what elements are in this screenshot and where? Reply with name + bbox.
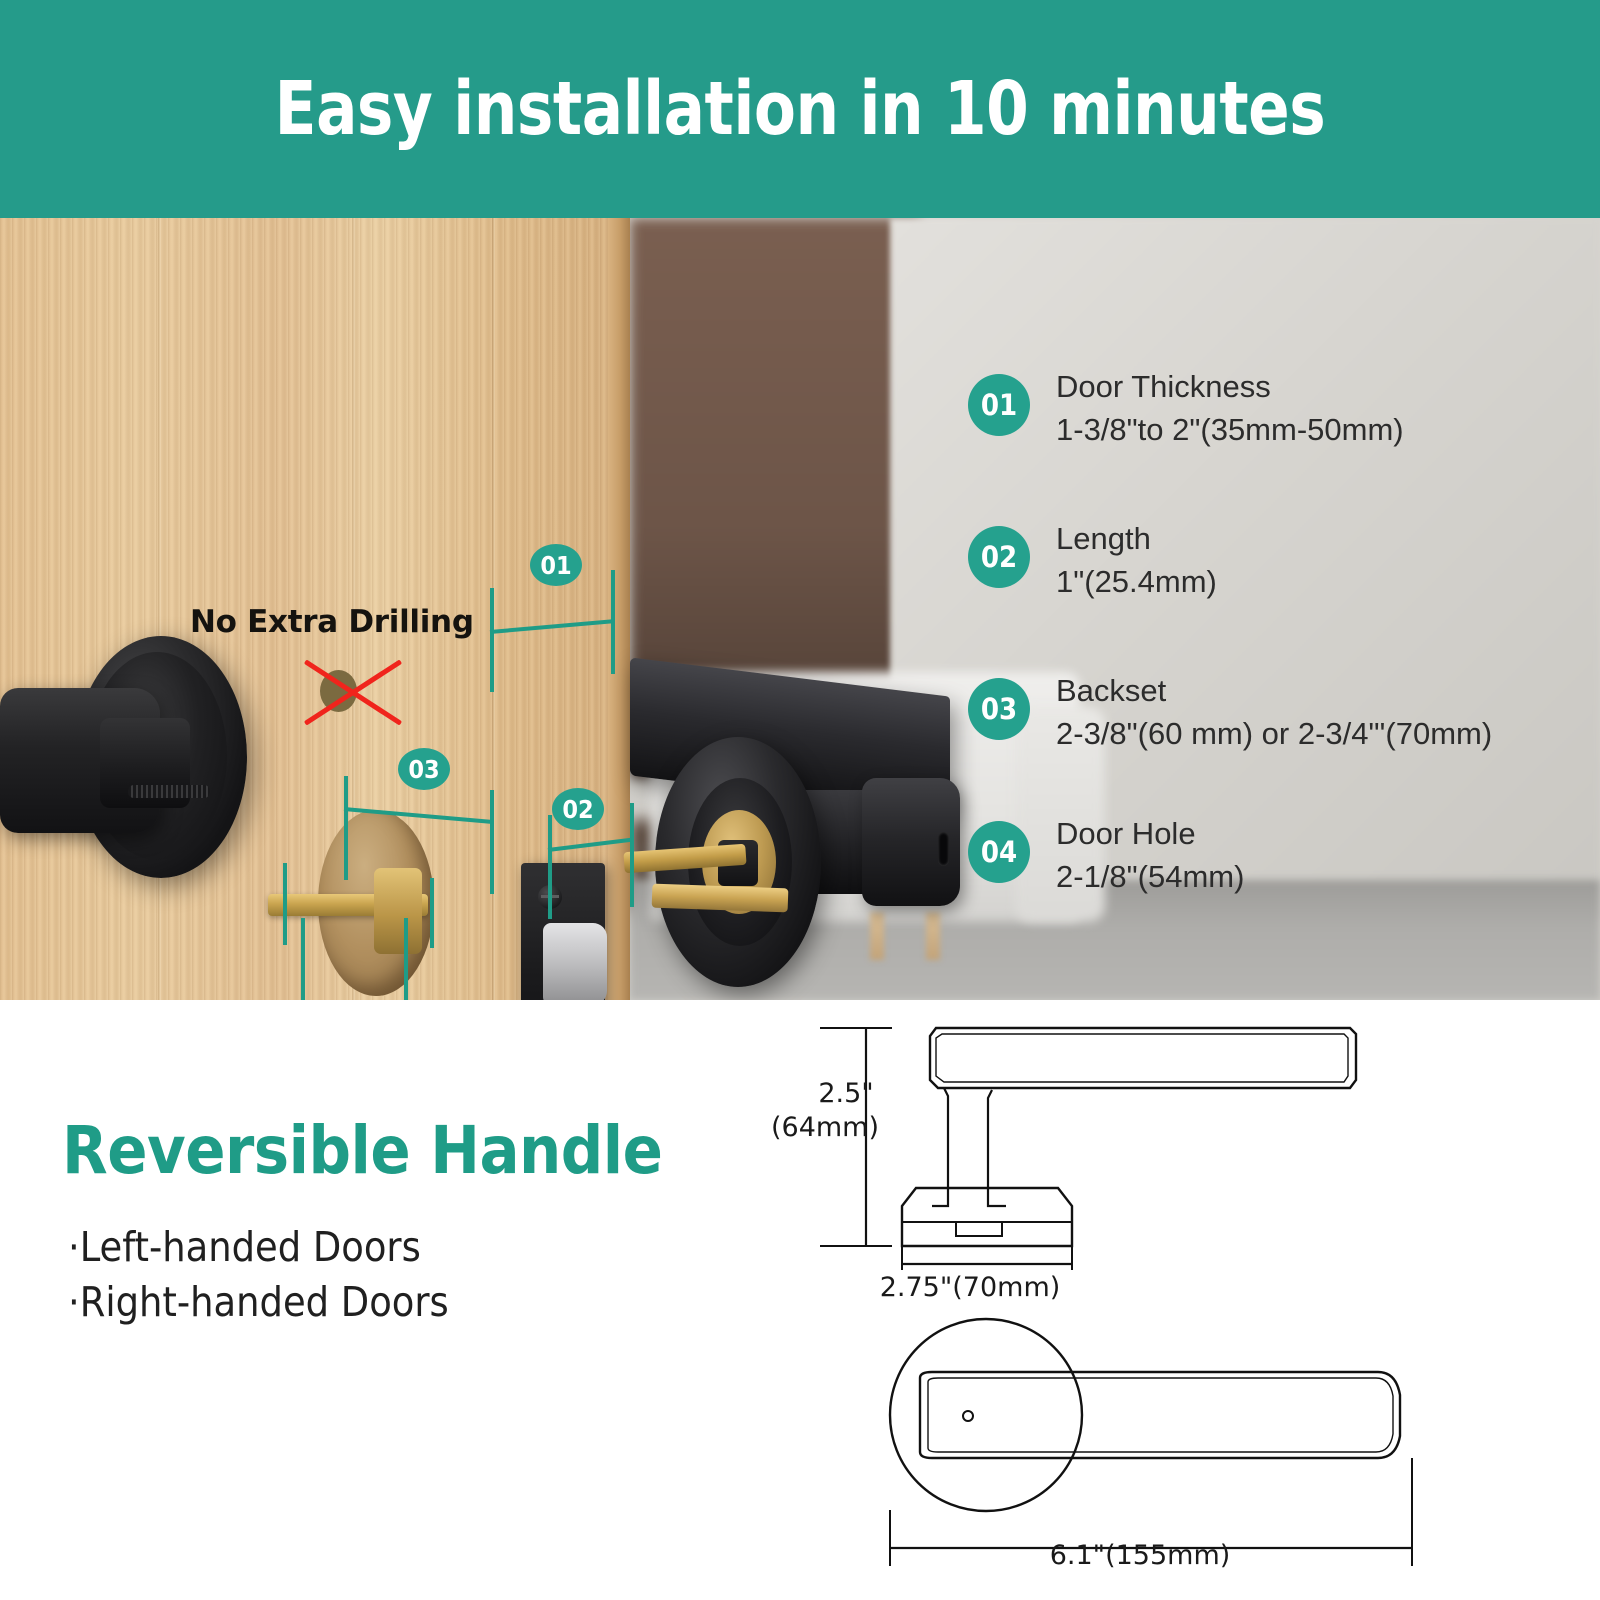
installation-photo: No Extra Drilling 01 03 02 04 (0, 218, 1600, 1000)
top-view-drawing (880, 1310, 1440, 1570)
spec-label-03: Backset (1056, 670, 1492, 712)
mounting-screw (128, 785, 210, 798)
spec-row-03: 03 Backset 2-3/8"(60 mm) or 2-3/4"'(70mm… (968, 670, 1492, 756)
spindle-hub (374, 868, 422, 954)
dimension-tick-03b (490, 790, 494, 894)
callout-badge-03-label: 03 (408, 755, 439, 784)
dimension-tick-04a (301, 918, 305, 1000)
reversible-handle-title: Reversible Handle (62, 1112, 662, 1189)
dimension-tick-02a (548, 815, 552, 919)
top-view-length-label: 6.1"(155mm) (1010, 1540, 1270, 1571)
spec-value-04: 2-1/8"(54mm) (1056, 855, 1244, 899)
spec-row-02: 02 Length 1"(25.4mm) (968, 518, 1217, 604)
spec-value-02: 1"(25.4mm) (1056, 560, 1217, 604)
spec-row-01: 01 Door Thickness 1-3/8"to 2"(35mm-50mm) (968, 366, 1404, 452)
spec-text-02: Length 1"(25.4mm) (1056, 518, 1217, 604)
spec-label-02: Length (1056, 518, 1217, 560)
latch-bolt (543, 923, 607, 1000)
spec-badge-04-label: 04 (981, 835, 1017, 869)
spec-text-01: Door Thickness 1-3/8"to 2"(35mm-50mm) (1056, 366, 1404, 452)
dimension-tick-04b (404, 918, 408, 1000)
brass-spindle (652, 884, 789, 913)
reversible-bullet-right: ·Right-handed Doors (68, 1278, 449, 1326)
wood-grain-seam (158, 218, 161, 1000)
spec-badge-02-label: 02 (981, 540, 1017, 574)
no-extra-drilling-label: No Extra Drilling (190, 604, 474, 640)
spec-label-01: Door Thickness (1056, 366, 1404, 408)
spec-label-04: Door Hole (1056, 813, 1244, 855)
spec-badge-02: 02 (968, 526, 1030, 588)
dimension-tick-03a (344, 776, 348, 880)
dimension-guide (283, 863, 287, 945)
dimension-guide (430, 878, 434, 948)
infographic-page: Easy installation in 10 minutes (0, 0, 1600, 1600)
side-view-height-line1: 2.5" (806, 1078, 886, 1109)
spec-value-01: 1-3/8"to 2"(35mm-50mm) (1056, 408, 1404, 452)
callout-badge-01-label: 01 (540, 551, 571, 580)
spec-text-03: Backset 2-3/8"(60 mm) or 2-3/4"'(70mm) (1056, 670, 1492, 756)
spec-value-03: 2-3/8"(60 mm) or 2-3/4"'(70mm) (1056, 712, 1492, 756)
spec-badge-03: 03 (968, 678, 1030, 740)
page-title: Easy installation in 10 minutes (275, 66, 1326, 152)
sofa-leg (926, 912, 940, 960)
callout-badge-02: 02 (552, 788, 604, 830)
dimension-tick-01a (490, 588, 494, 692)
callout-badge-01: 01 (530, 544, 582, 586)
dimension-tick-02b (630, 803, 634, 907)
sofa-leg (870, 912, 884, 960)
callout-badge-03: 03 (398, 748, 450, 790)
side-view-drawing (820, 1010, 1420, 1270)
spec-badge-03-label: 03 (981, 692, 1017, 726)
spec-row-04: 04 Door Hole 2-1/8"(54mm) (968, 813, 1244, 899)
spec-badge-04: 04 (968, 821, 1030, 883)
callout-badge-02-label: 02 (562, 795, 593, 824)
side-view-width-label: 2.75"(70mm) (840, 1272, 1100, 1303)
spec-badge-01-label: 01 (981, 388, 1017, 422)
header-banner: Easy installation in 10 minutes (0, 0, 1600, 218)
side-view-height-line2: (64mm) (766, 1112, 884, 1143)
reversible-bullet-left: ·Left-handed Doors (68, 1223, 421, 1271)
handle-slot (938, 832, 949, 866)
spec-badge-01: 01 (968, 374, 1030, 436)
spec-text-04: Door Hole 2-1/8"(54mm) (1056, 813, 1244, 899)
